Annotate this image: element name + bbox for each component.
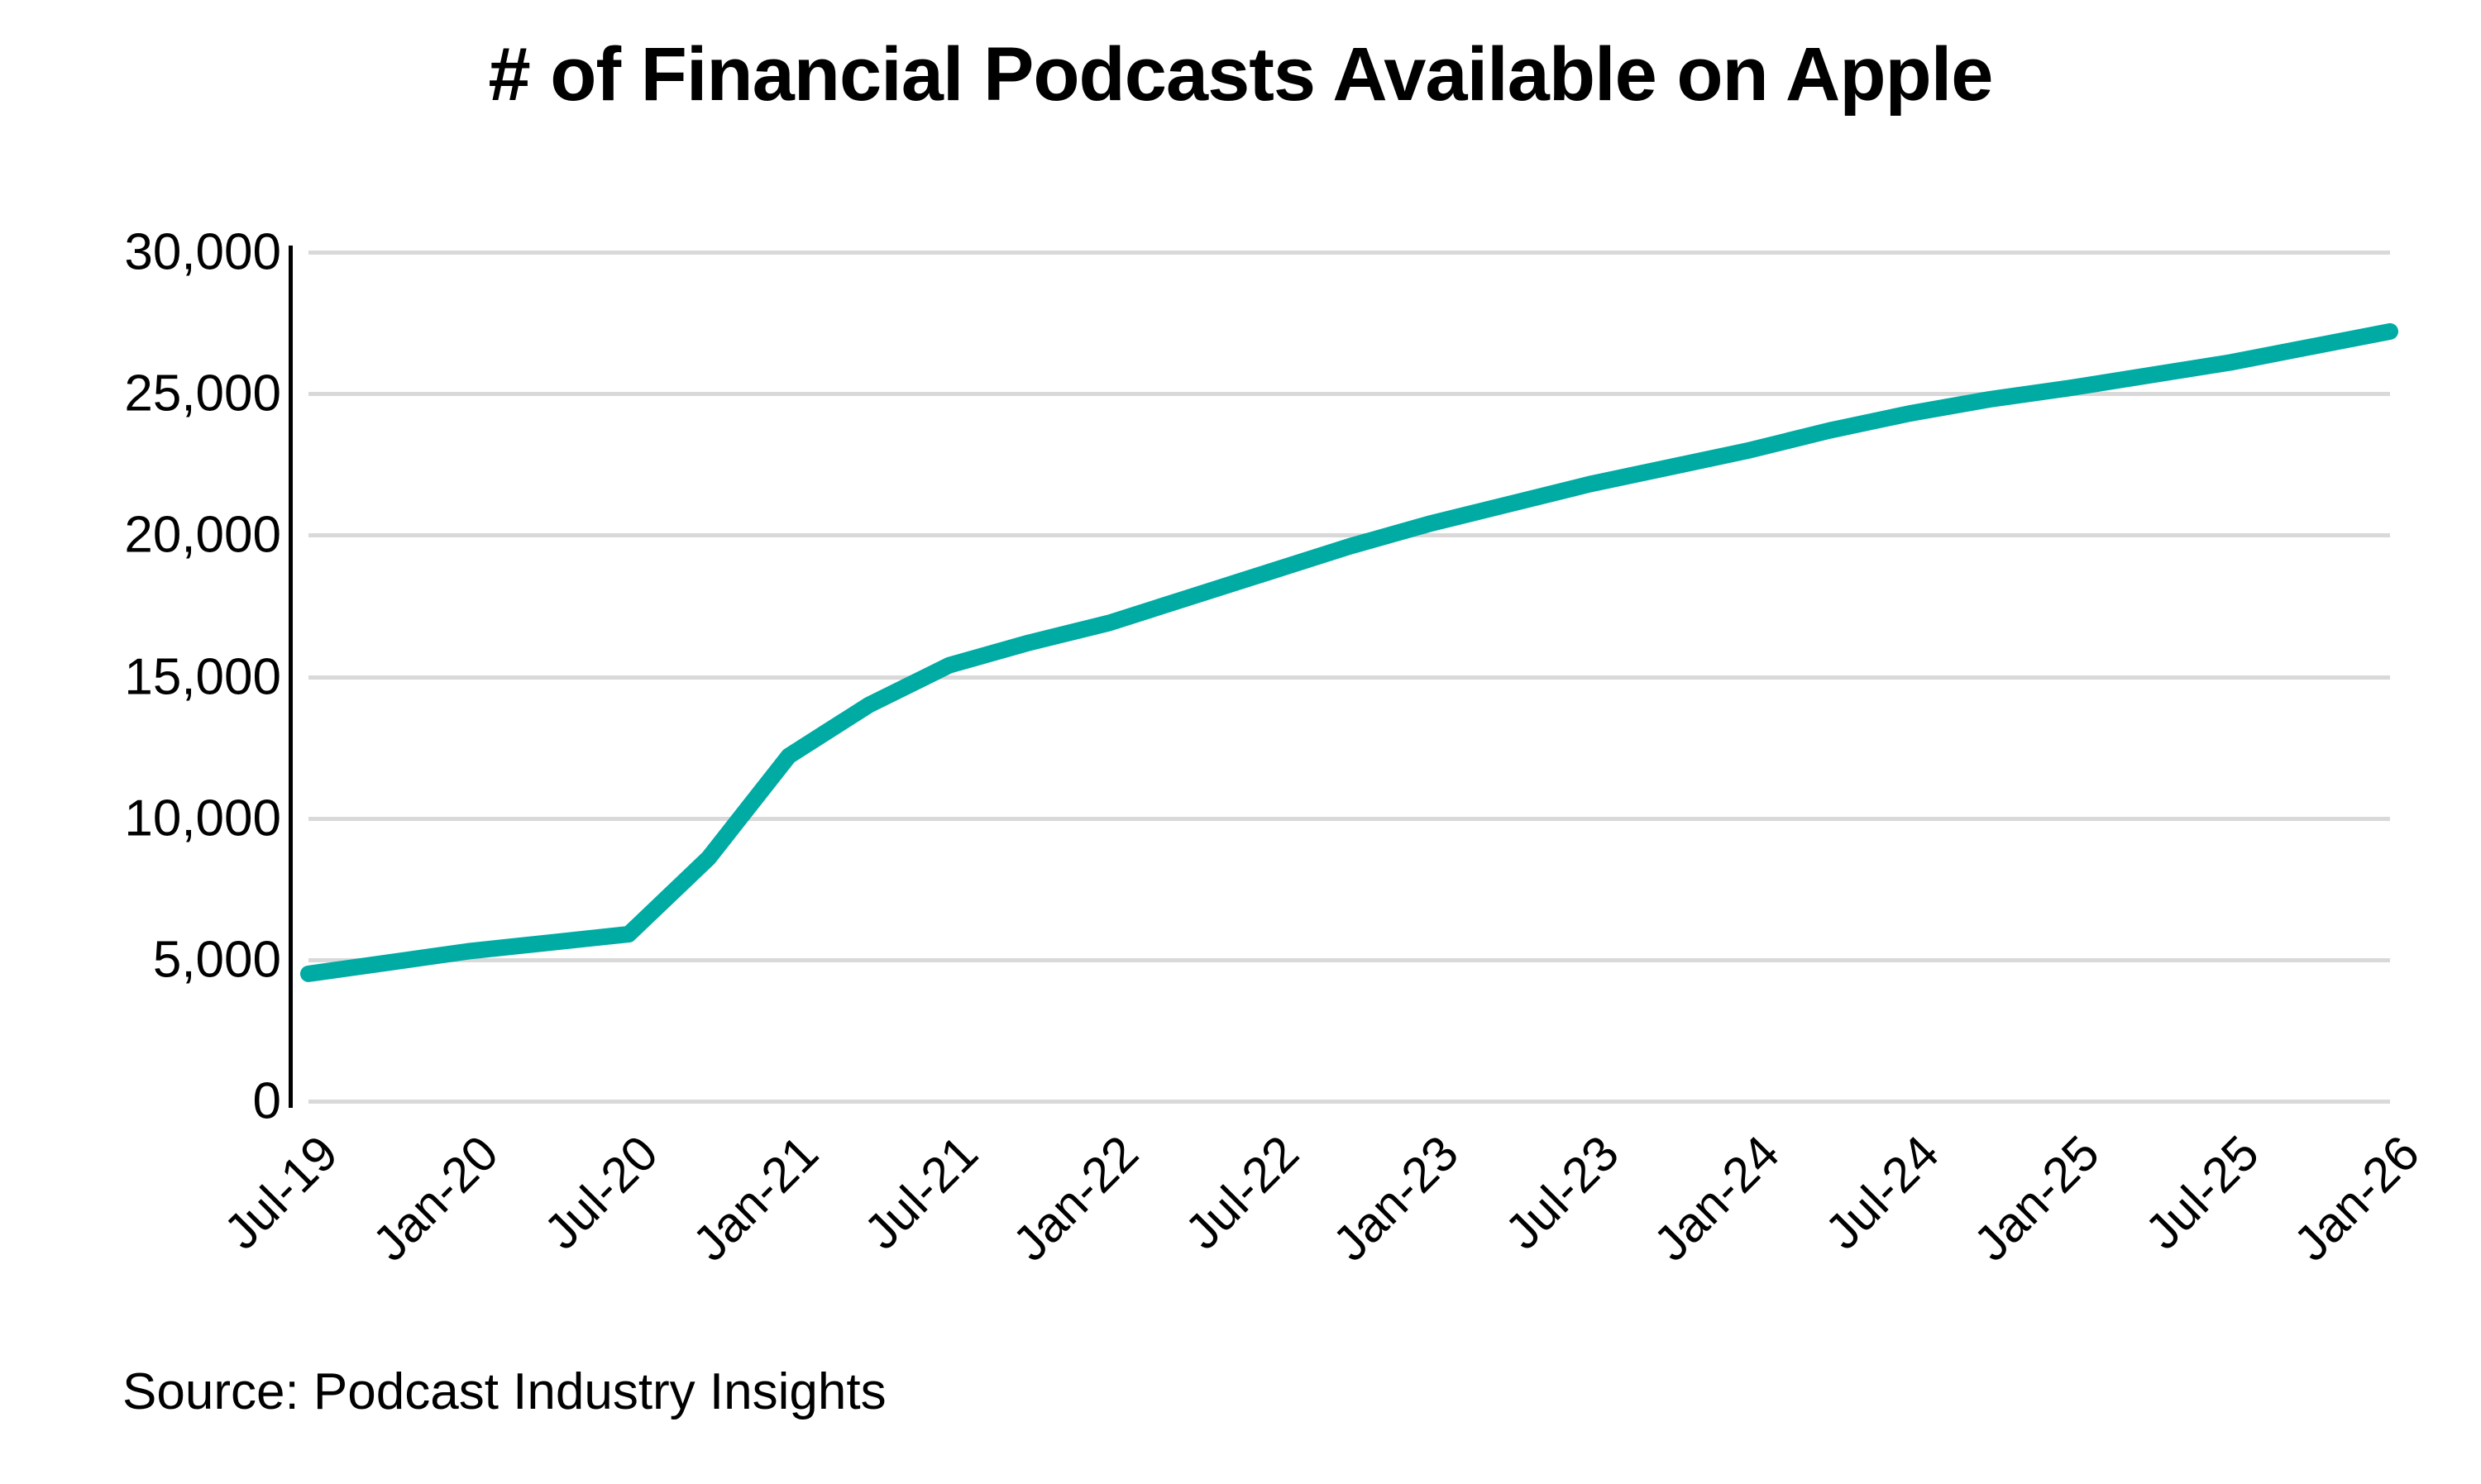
x-axis-tick-label: Jul-22: [1174, 1124, 1309, 1260]
x-axis-tick-label: Jan-25: [1962, 1124, 2111, 1272]
y-axis-tick-label: 10,000: [8, 789, 281, 847]
x-axis-tick-label: Jan-21: [681, 1124, 829, 1272]
source-note: Source: Podcast Industry Insights: [122, 1362, 887, 1421]
series-line-chart: [308, 252, 2390, 1101]
y-axis-line: [289, 246, 293, 1108]
x-axis-tick-label: Jul-23: [1494, 1124, 1629, 1260]
x-axis-tick-label: Jan-22: [1001, 1124, 1150, 1272]
y-axis-tick-label: 0: [8, 1072, 281, 1131]
plot-area: [308, 252, 2390, 1101]
x-axis-tick-label: Jul-21: [853, 1124, 989, 1260]
x-axis-tick-label: Jan-26: [2283, 1124, 2431, 1272]
x-axis-tick-label: Jan-20: [361, 1124, 509, 1272]
y-axis-tick-label: 15,000: [8, 647, 281, 706]
x-axis-tick-label: Jul-24: [1814, 1124, 1950, 1260]
y-axis-tick-label: 5,000: [8, 930, 281, 989]
x-axis-tick-label: Jul-19: [213, 1124, 348, 1260]
chart-container: # of Financial Podcasts Available on App…: [0, 0, 2481, 1484]
y-axis-tick-label: 20,000: [8, 506, 281, 565]
x-axis-tick-label: Jan-23: [1322, 1124, 1470, 1272]
x-axis-tick-label: Jul-25: [2134, 1124, 2270, 1260]
y-axis-tick-label: 30,000: [8, 223, 281, 282]
y-axis-tick-label: 25,000: [8, 365, 281, 423]
series-line-podcast-count: [308, 332, 2390, 974]
x-axis-tick-label: Jan-24: [1642, 1124, 1790, 1272]
chart-title: # of Financial Podcasts Available on App…: [0, 31, 2481, 118]
x-axis-tick-label: Jul-20: [533, 1124, 669, 1260]
